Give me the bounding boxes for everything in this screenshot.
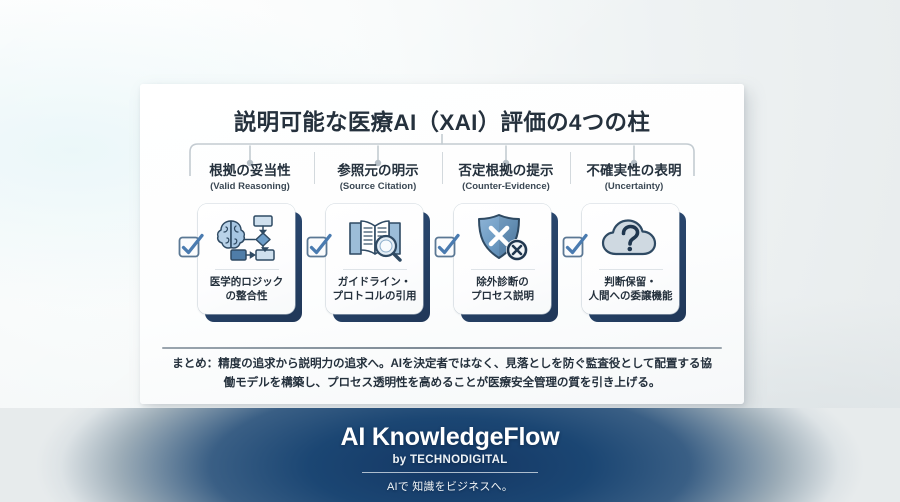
pillar-card[interactable]: ガイドライン・ プロトコルの引用 <box>326 204 423 314</box>
card-icon-slot <box>600 207 662 269</box>
page-title: 説明可能な医療AI（XAI）評価の4つの柱 <box>140 105 744 137</box>
column-title-ja: 否定根拠の提示 <box>458 163 553 179</box>
pillar-card[interactable]: 除外診断の プロセス説明 <box>454 204 551 314</box>
pillar-column-source-citation[interactable]: 参照元の明示 (Source Citation) <box>314 150 442 344</box>
checkbox-checked-icon[interactable] <box>176 231 206 261</box>
brand-title: AI KnowledgeFlow <box>340 423 559 452</box>
column-title-ja: 根拠の妥当性 <box>209 163 291 179</box>
checkbox-checked-icon[interactable] <box>432 231 462 261</box>
column-header: 根拠の妥当性 (Valid Reasoning) <box>209 163 291 192</box>
brain-flowchart-icon <box>214 213 280 263</box>
cloud-question-icon <box>600 216 662 260</box>
pillar-card-group: ガイドライン・ プロトコルの引用 <box>326 204 430 322</box>
column-title-en: (Valid Reasoning) <box>209 181 291 192</box>
error-badge-sub-icon <box>506 239 528 261</box>
brand-divider <box>362 472 538 473</box>
card-label: ガイドライン・ プロトコルの引用 <box>333 276 417 304</box>
card-label: 判断保留・ 人間への委譲機能 <box>589 276 673 304</box>
brand-subtitle: by TECHNODIGITAL <box>392 454 507 466</box>
open-book-magnifier-icon <box>345 213 405 263</box>
column-title-ja: 参照元の明示 <box>337 163 419 179</box>
pillar-column-counter-evidence[interactable]: 否定根拠の提示 (Counter-Evidence) <box>442 150 570 344</box>
column-header: 参照元の明示 (Source Citation) <box>337 163 419 192</box>
pillar-card-group: 医学的ロジック の整合性 <box>198 204 302 322</box>
pillar-card[interactable]: 医学的ロジック の整合性 <box>198 204 295 314</box>
footer-band: AI KnowledgeFlow by TECHNODIGITAL AIで 知識… <box>0 408 900 502</box>
card-icon-slot <box>345 207 405 269</box>
column-title-en: (Counter-Evidence) <box>458 181 553 192</box>
card-label: 医学的ロジック の整合性 <box>210 276 284 304</box>
column-title-en: (Uncertainty) <box>586 181 681 192</box>
summary-divider <box>162 347 722 349</box>
column-header: 否定根拠の提示 (Counter-Evidence) <box>458 163 553 192</box>
card-label: 除外診断の プロセス説明 <box>471 276 534 304</box>
card-icon-slot <box>214 207 280 269</box>
checkbox-checked-icon[interactable] <box>560 231 590 261</box>
pillar-card-group: 除外診断の プロセス説明 <box>454 204 558 322</box>
card-divider <box>471 269 535 270</box>
pillar-columns: 根拠の妥当性 (Valid Reasoning) <box>186 150 698 344</box>
infographic-panel: 説明可能な医療AI（XAI）評価の4つの柱 根拠の妥当性 (Valid Reas… <box>140 84 744 404</box>
pillar-card-group: 判断保留・ 人間への委譲機能 <box>582 204 686 322</box>
card-divider <box>599 269 663 270</box>
pillar-card[interactable]: 判断保留・ 人間への委譲機能 <box>582 204 679 314</box>
pillar-column-valid-reasoning[interactable]: 根拠の妥当性 (Valid Reasoning) <box>186 150 314 344</box>
footer-content: AI KnowledgeFlow by TECHNODIGITAL AIで 知識… <box>0 408 900 502</box>
summary-text: まとめ：精度の追求から説明力の追求へ。AIを決定者ではなく、見落としを防ぐ監査役… <box>168 355 716 393</box>
card-icon-slot <box>475 207 531 269</box>
card-divider <box>215 269 279 270</box>
brand-tagline: AIで 知識をビジネスへ。 <box>387 478 513 494</box>
column-title-en: (Source Citation) <box>337 181 419 192</box>
card-divider <box>343 269 407 270</box>
column-header: 不確実性の表明 (Uncertainty) <box>586 163 681 192</box>
checkbox-checked-icon[interactable] <box>304 231 334 261</box>
pillar-column-uncertainty[interactable]: 不確実性の表明 (Uncertainty) 判断保留・ 人間への <box>570 150 698 344</box>
shield-cross-icon <box>475 212 531 264</box>
column-title-ja: 不確実性の表明 <box>586 163 681 179</box>
